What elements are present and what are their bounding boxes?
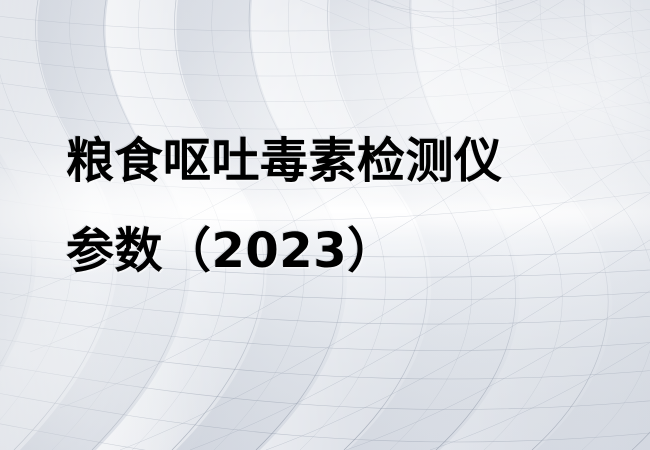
banner-title: 粮食呕吐毒素检测仪 参数（2023） (66, 116, 626, 296)
title-line-parameters: 参数（2023） (66, 206, 626, 296)
title-line-product: 粮食呕吐毒素检测仪 (66, 116, 626, 206)
banner-image: 粮食呕吐毒素检测仪 参数（2023） (0, 0, 650, 450)
